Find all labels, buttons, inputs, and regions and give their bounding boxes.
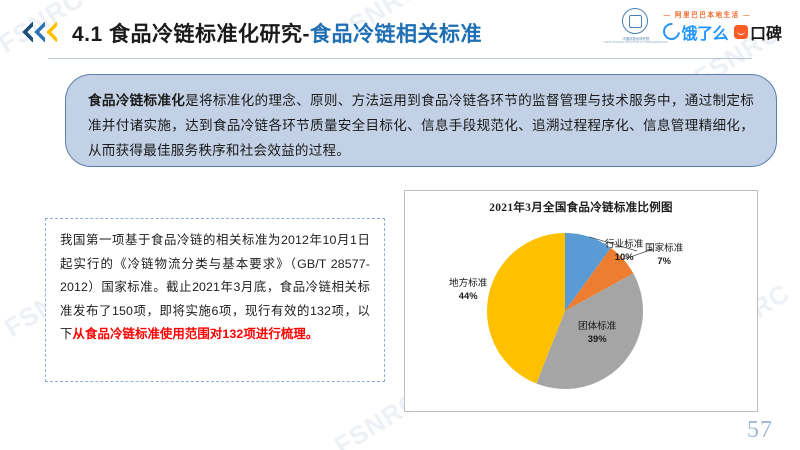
eleme-label: 饿了么 [681, 20, 728, 44]
triple-chevron-icon [22, 22, 57, 42]
pie-label-guojia-value: 7% [645, 255, 683, 267]
koubei-logo: 口碑 [734, 20, 782, 44]
pie-label-hangye: 行业标准 10% [605, 239, 643, 262]
page-title-main: 4.1 食品冷链标准化研究- [72, 23, 310, 46]
pie-label-hangye-name: 行业标准 [605, 239, 643, 250]
pie-label-guojia-name: 国家标准 [645, 243, 683, 254]
note-text: 我国第一项基于食品冷链的相关标准为2012年10月1日起实行的《冷链物流分类与基… [60, 229, 370, 347]
pie-label-tuanti-name: 团体标准 [578, 321, 616, 332]
alibaba-local-services-logo: — 阿里巴巴本地生活 — 饿了么 口碑 [663, 9, 782, 44]
slide-canvas: FSNRC FSNRC FSNRC FSNRC FSNRC FSNRC 4.1 … [0, 0, 800, 450]
page-title-accent: 食品冷链相关标准 [310, 23, 482, 46]
definition-text: 食品冷链标准化是将标准化的理念、原则、方法运用到食品冷链各环节的监督管理与技术服… [88, 88, 754, 163]
page-number: 57 [747, 417, 773, 444]
note-body-text: 我国第一项基于食品冷链的相关标准为2012年10月1日起实行的《冷链物流分类与基… [60, 233, 370, 341]
brand-logo-group: 中国标准化研究院 CHINA NATIONAL INSTITUTE OF STA… [615, 4, 782, 48]
seal-label-en: CHINA NATIONAL INSTITUTE OF STANDARDIZAT… [603, 41, 668, 44]
alibaba-tagline: — 阿里巴巴本地生活 — [663, 8, 751, 19]
pie-label-guojia: 国家标准 7% [645, 243, 683, 266]
pie-label-difang: 地方标准 44% [449, 278, 487, 301]
pie-label-tuanti: 团体标准 39% [578, 321, 616, 344]
definition-body-text: 是将标准化的理念、原则、方法运用到食品冷链各环节的监督管理与技术服务中，通过制定… [88, 93, 754, 158]
seal-label-cn: 中国标准化研究院 [622, 36, 649, 41]
slide-header: 4.1 食品冷链标准化研究-食品冷链相关标准 中国标准化研究院 CHINA NA… [0, 0, 800, 62]
note-dashed-box: 我国第一项基于食品冷链的相关标准为2012年10月1日起实行的《冷链物流分类与基… [45, 218, 385, 382]
definition-callout-box: 食品冷链标准化是将标准化的理念、原则、方法运用到食品冷链各环节的监督管理与技术服… [65, 74, 777, 167]
definition-lead-term: 食品冷链标准化 [88, 93, 185, 108]
pie-label-hangye-value: 10% [605, 251, 643, 263]
pie-label-difang-value: 44% [449, 290, 487, 302]
koubei-smile-icon [734, 25, 748, 39]
header-divider [48, 58, 752, 59]
eleme-logo: 饿了么 [663, 20, 728, 44]
pie-chart-panel: 2021年3月全国食品冷链标准比例图 行业标准 10% 国家标准 7% 团体标准… [404, 190, 758, 412]
note-highlight-text: 从食品冷链标准使用范围对132项进行梳理。 [73, 327, 319, 341]
pie-chart-svg [405, 191, 759, 413]
pie-label-difang-name: 地方标准 [449, 278, 487, 289]
page-title: 4.1 食品冷链标准化研究-食品冷链相关标准 [72, 18, 482, 48]
pie-chart: 行业标准 10% 国家标准 7% 团体标准 39% 地方标准 44% [405, 191, 759, 413]
china-standardization-seal-icon: 中国标准化研究院 CHINA NATIONAL INSTITUTE OF STA… [615, 6, 655, 46]
koubei-label: 口碑 [750, 20, 782, 44]
pie-label-tuanti-value: 39% [578, 333, 616, 345]
